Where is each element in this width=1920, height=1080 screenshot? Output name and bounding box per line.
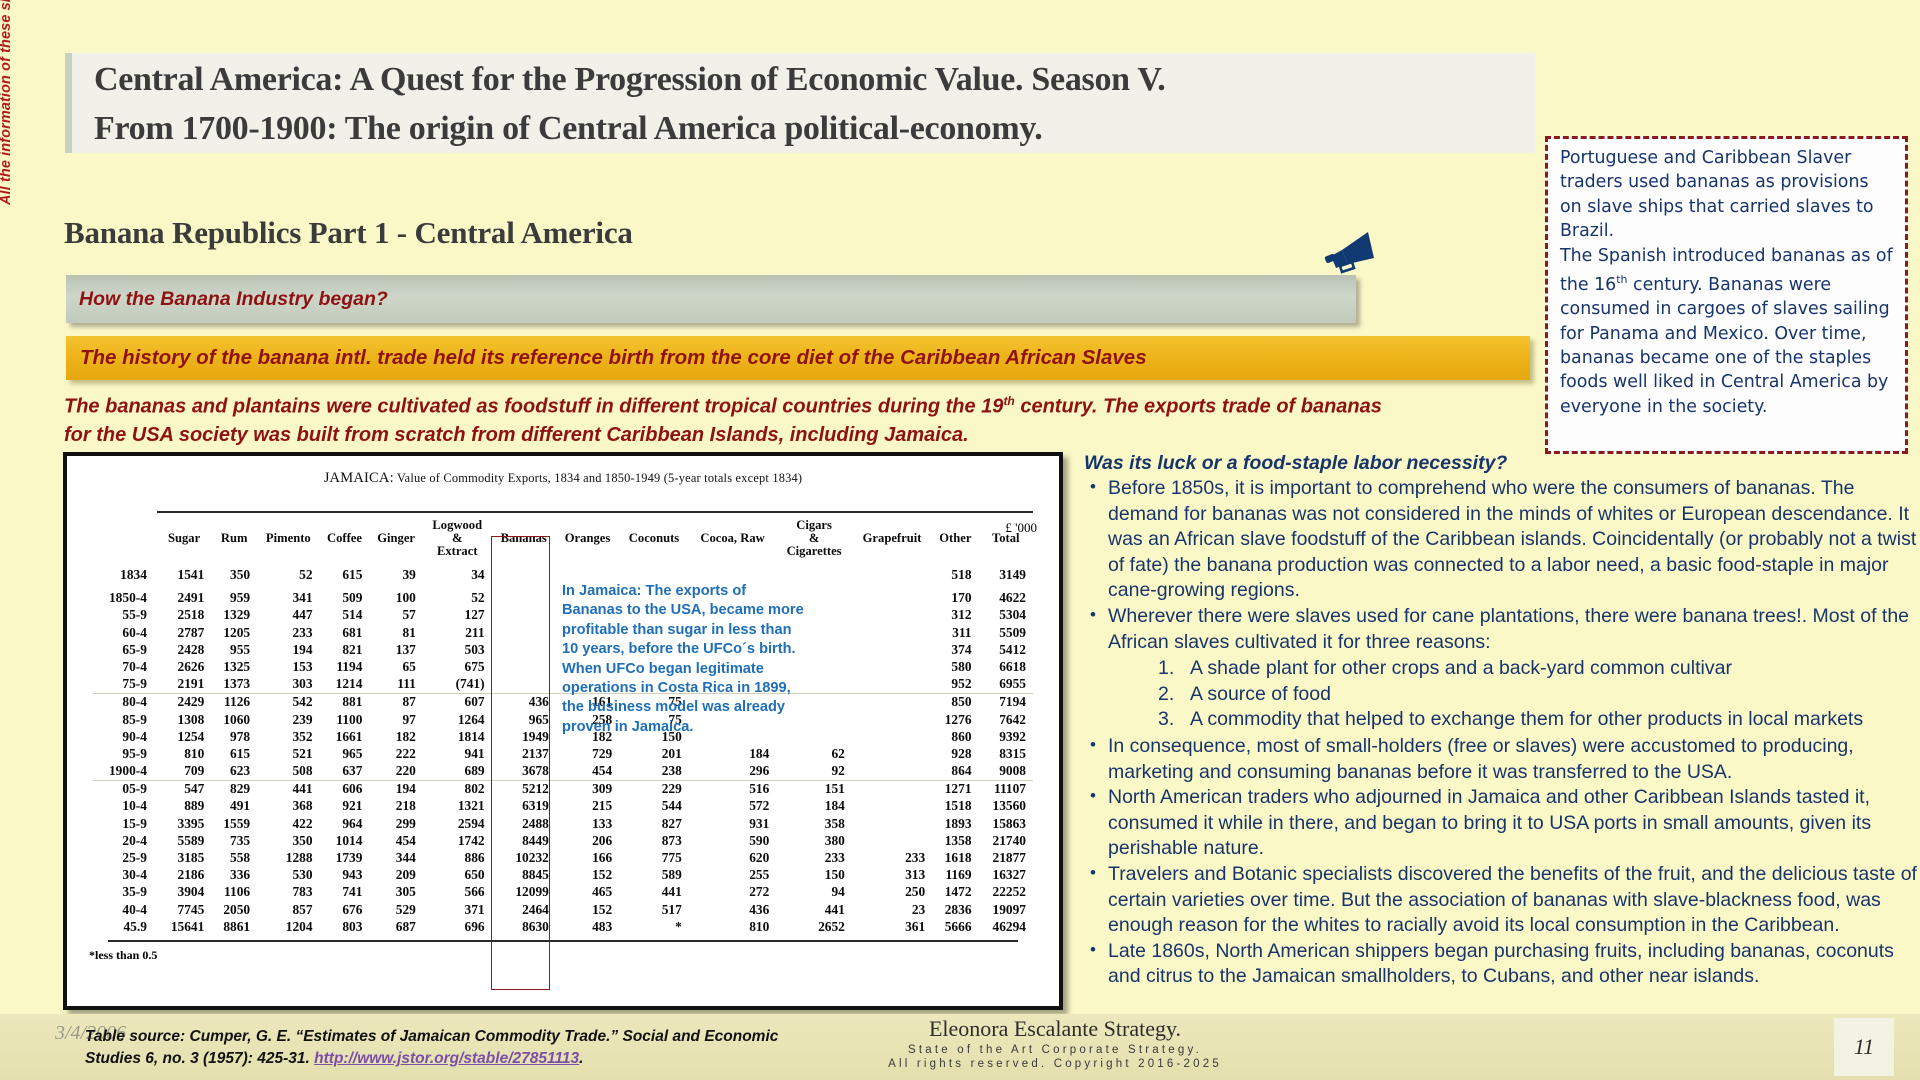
table-row-label: 30-4 — [93, 867, 157, 884]
table-cell: 2429 — [157, 693, 211, 711]
table-cell: 250 — [852, 884, 932, 901]
list-text: A source of food — [1190, 683, 1331, 705]
table-cell: 21877 — [979, 849, 1033, 866]
table-cell: 959 — [211, 583, 257, 607]
table-cell: 1214 — [320, 676, 370, 694]
table-cell: 952 — [932, 676, 978, 694]
gold-statement-bar: The history of the banana intl. trade he… — [66, 336, 1530, 380]
table-cell: 233 — [776, 849, 852, 866]
table-cell: 1276 — [932, 711, 978, 728]
table-cell: 371 — [423, 901, 492, 918]
table-row-label: 80-4 — [93, 693, 157, 711]
brand-footer: Eleonora Escalante Strategy. State of th… — [795, 1016, 1315, 1070]
table-cell: 65 — [369, 658, 422, 675]
numbered-reasons-list: 1.A shade plant for other crops and a ba… — [1084, 656, 1920, 733]
table-cell — [619, 566, 689, 583]
table-cell: 1100 — [320, 711, 370, 728]
list-text: A shade plant for other crops and a back… — [1190, 657, 1732, 679]
table-cell: 558 — [211, 849, 257, 866]
table-cell: 606 — [320, 780, 370, 798]
table-cell — [852, 728, 932, 745]
table-row-label: 45.9 — [93, 918, 157, 935]
table-column-header: Cigars&Cigarettes — [776, 512, 852, 566]
table-cell: 9392 — [979, 728, 1033, 745]
table-cell: 2428 — [157, 641, 211, 658]
table-cell: 2836 — [932, 901, 978, 918]
table-cell: 170 — [932, 583, 978, 607]
table-column-header: Logwood&Extract — [423, 512, 492, 566]
table-row-label: 1900-4 — [93, 762, 157, 780]
table-cell: 2186 — [157, 867, 211, 884]
list-item: Travelers and Botanic specialists discov… — [1084, 862, 1920, 939]
table-cell: 637 — [320, 762, 370, 780]
table-cell: 2652 — [776, 918, 852, 935]
table-cell: 860 — [932, 728, 978, 745]
table-cell: 312 — [932, 607, 978, 624]
table-units-label: £ '000 — [1005, 520, 1037, 536]
table-cell: 299 — [369, 815, 422, 832]
table-cell: 623 — [211, 762, 257, 780]
table-cell: 341 — [257, 583, 319, 607]
table-row: 15-9339515594229642992594248813382793135… — [93, 815, 1033, 832]
intro-paragraph: The bananas and plantains were cultivate… — [64, 387, 1404, 449]
table-cell: 57 — [369, 607, 422, 624]
table-cell: 182 — [369, 728, 422, 745]
jamaica-exports-table-panel: JAMAICA: Value of Commodity Exports, 183… — [63, 452, 1063, 1010]
table-cell: 607 — [423, 693, 492, 711]
table-cell: 5412 — [979, 641, 1033, 658]
table-cell: 311 — [932, 624, 978, 641]
table-cell: 509 — [320, 583, 370, 607]
table-cell: 8315 — [979, 745, 1033, 762]
table-cell: 529 — [369, 901, 422, 918]
table-cell: 689 — [423, 762, 492, 780]
table-row-label: 85-9 — [93, 711, 157, 728]
table-cell: 620 — [689, 849, 777, 866]
table-cell: 380 — [776, 832, 852, 849]
list-item: Wherever there were slaves used for cane… — [1084, 604, 1920, 655]
table-cell: 52 — [423, 583, 492, 607]
table-cell: 542 — [257, 693, 319, 711]
table-cell: 921 — [320, 798, 370, 815]
table-cell: 7642 — [979, 711, 1033, 728]
table-cell: 547 — [157, 780, 211, 798]
table-cell: 52 — [257, 566, 319, 583]
table-cell: 931 — [689, 815, 777, 832]
table-row: 35-9390411067837413055661209946544127294… — [93, 884, 1033, 901]
table-cell: 1205 — [211, 624, 257, 641]
table-cell: 1271 — [932, 780, 978, 798]
table-cell — [852, 693, 932, 711]
table-cell: * — [619, 918, 689, 935]
table-cell: 447 — [257, 607, 319, 624]
table-cell: 8861 — [211, 918, 257, 935]
table-cell: 272 — [689, 884, 777, 901]
table-cell: 9008 — [979, 762, 1033, 780]
table-cell — [852, 624, 932, 641]
table-column-header: Grapefruit — [852, 512, 932, 566]
table-cell: 483 — [556, 918, 619, 935]
table-cell: 889 — [157, 798, 211, 815]
page-number: 11 — [1834, 1018, 1894, 1076]
table-cell: 454 — [556, 762, 619, 780]
table-cell: 133 — [556, 815, 619, 832]
brand-name: Eleonora Escalante Strategy. — [795, 1016, 1315, 1042]
table-cell — [852, 711, 932, 728]
brand-copyright: All rights reserved. Copyright 2016-2025 — [795, 1058, 1315, 1070]
table-cell: 964 — [320, 815, 370, 832]
table-cell: 518 — [932, 566, 978, 583]
table-cell: 127 — [423, 607, 492, 624]
bananas-column-highlight — [491, 536, 550, 990]
table-cell: 21740 — [979, 832, 1033, 849]
table-cell: 955 — [211, 641, 257, 658]
list-item: Late 1860s, North American shippers bega… — [1084, 939, 1920, 990]
table-cell: 1559 — [211, 815, 257, 832]
table-cell: 358 — [776, 815, 852, 832]
table-row-label: 90-4 — [93, 728, 157, 745]
table-cell: 2626 — [157, 658, 211, 675]
table-cell: 1264 — [423, 711, 492, 728]
table-caption-a: JAMAICA: — [324, 470, 394, 486]
table-row: 25-9318555812881739344886102321667756202… — [93, 849, 1033, 866]
table-cell: 220 — [369, 762, 422, 780]
table-head: SugarRumPimentoCoffeeGingerLogwood&Extra… — [93, 512, 1033, 566]
table-cell: 16327 — [979, 867, 1033, 884]
table-cell: 566 — [423, 884, 492, 901]
table-cell: 1254 — [157, 728, 211, 745]
table-cell: 184 — [689, 745, 777, 762]
table-cell — [852, 566, 932, 583]
table-cell: 1814 — [423, 728, 492, 745]
table-cell: 1308 — [157, 711, 211, 728]
table-cell: 194 — [257, 641, 319, 658]
table-cell: 166 — [556, 849, 619, 866]
table-cell: 153 — [257, 658, 319, 675]
table-row: 05-9547829441606194802521230922951615112… — [93, 780, 1033, 798]
table-cell: 211 — [423, 624, 492, 641]
table-cell: 1060 — [211, 711, 257, 728]
table-cell: 305 — [369, 884, 422, 901]
table-cell: 580 — [932, 658, 978, 675]
table-cell: 783 — [257, 884, 319, 901]
table-row: 10-4889491368921218132163192155445721841… — [93, 798, 1033, 815]
question-bar: How the Banana Industry began? — [66, 275, 1356, 323]
table-cell: 873 — [619, 832, 689, 849]
table-cell: 15641 — [157, 918, 211, 935]
table-cell — [776, 566, 852, 583]
table-cell: 1518 — [932, 798, 978, 815]
table-cell: (741) — [423, 676, 492, 694]
table-cell: 965 — [320, 745, 370, 762]
megaphone-icon — [1322, 228, 1384, 280]
table-cell: 516 — [689, 780, 777, 798]
table-cell — [852, 583, 932, 607]
table-column-header: Oranges — [556, 512, 619, 566]
callout-paragraph-1: Portuguese and Caribbean Slaver traders … — [1560, 146, 1895, 244]
table-cell: 881 — [320, 693, 370, 711]
table-cell — [852, 762, 932, 780]
table-cell: 454 — [369, 832, 422, 849]
table-row-label: 60-4 — [93, 624, 157, 641]
table-cell: 2491 — [157, 583, 211, 607]
table-cell — [852, 798, 932, 815]
table-cell: 137 — [369, 641, 422, 658]
table-cell — [852, 658, 932, 675]
table-cell: 368 — [257, 798, 319, 815]
table-cell: 5304 — [979, 607, 1033, 624]
table-cell: 3395 — [157, 815, 211, 832]
gold-statement-label: The history of the banana intl. trade he… — [66, 346, 1147, 370]
table-cell: 650 — [423, 867, 492, 884]
table-cell: 352 — [257, 728, 319, 745]
table-cell: 22252 — [979, 884, 1033, 901]
table-cell: 229 — [619, 780, 689, 798]
table-cell: 215 — [556, 798, 619, 815]
table-cell — [852, 815, 932, 832]
table-cell: 94 — [776, 884, 852, 901]
table-cell: 530 — [257, 867, 319, 884]
table-row: 95-9810615521965222941213772920118462928… — [93, 745, 1033, 762]
table-cell: 741 — [320, 884, 370, 901]
table-cell: 696 — [423, 918, 492, 935]
table-row-label: 75-9 — [93, 676, 157, 694]
table-cell: 218 — [369, 798, 422, 815]
callout-paragraph-2: The Spanish introduced bananas as of the… — [1560, 244, 1895, 420]
table-cell — [852, 676, 932, 694]
table-cell: 1325 — [211, 658, 257, 675]
table-cell: 928 — [932, 745, 978, 762]
table-cell: 1329 — [211, 607, 257, 624]
table-row-label: 15-9 — [93, 815, 157, 832]
table-cell: 7745 — [157, 901, 211, 918]
right-bullet-list: Before 1850s, it is important to compreh… — [1084, 476, 1920, 655]
table-row: 183415413505261539345183149 — [93, 566, 1033, 583]
table-cell: 361 — [852, 918, 932, 935]
table-caption: JAMAICA: Value of Commodity Exports, 183… — [67, 470, 1059, 487]
table-cell: 775 — [619, 849, 689, 866]
table-cell: 87 — [369, 693, 422, 711]
blue-annotation: In Jamaica: The exports of Bananas to th… — [562, 582, 810, 737]
table-caption-b: Value of Commodity Exports, 1834 and 185… — [394, 471, 802, 485]
table-cell: 827 — [619, 815, 689, 832]
table-cell: 23 — [852, 901, 932, 918]
table-cell: 6618 — [979, 658, 1033, 675]
question-bar-label: How the Banana Industry began? — [66, 288, 388, 311]
table-cell: 943 — [320, 867, 370, 884]
table-cell: 1742 — [423, 832, 492, 849]
table-cell: 152 — [556, 901, 619, 918]
table-cell: 1618 — [932, 849, 978, 866]
table-cell: 517 — [619, 901, 689, 918]
table-cell: 3185 — [157, 849, 211, 866]
table-column-header: Other — [932, 512, 978, 566]
table-row-label: 40-4 — [93, 901, 157, 918]
table-cell: 3149 — [979, 566, 1033, 583]
table-cell: 1373 — [211, 676, 257, 694]
table-column-header: Cocoa, Raw — [689, 512, 777, 566]
table-cell: 590 — [689, 832, 777, 849]
table-cell: 1321 — [423, 798, 492, 815]
brand-tagline: State of the Art Corporate Strategy. — [795, 1044, 1315, 1056]
list-text: A commodity that helped to exchange them… — [1190, 708, 1863, 730]
callout-text-b: century. Bananas were consumed in cargoe… — [1560, 275, 1890, 417]
table-column-header: Rum — [211, 512, 257, 566]
table-row: 45.915641886112048036876968630483*810265… — [93, 918, 1033, 935]
table-cell: 344 — [369, 849, 422, 866]
slide-title-band: Central America: A Quest for the Progres… — [65, 53, 1535, 153]
page-title-line1: Central America: A Quest for the Progres… — [94, 55, 1535, 104]
table-cell: 1358 — [932, 832, 978, 849]
list-number: 3. — [1158, 707, 1174, 733]
table-row-label: 35-9 — [93, 884, 157, 901]
table-cell: 735 — [211, 832, 257, 849]
table-row: 1900-47096235086372206893678454238296928… — [93, 762, 1033, 780]
table-cell: 151 — [776, 780, 852, 798]
table-cell: 39 — [369, 566, 422, 583]
table-cell: 150 — [776, 867, 852, 884]
table-cell: 978 — [211, 728, 257, 745]
table-cell: 687 — [369, 918, 422, 935]
table-cell: 681 — [320, 624, 370, 641]
source-link[interactable]: http://www.jstor.org/stable/27851113 — [314, 1050, 579, 1067]
table-cell: 34 — [423, 566, 492, 583]
intro-text-a: The bananas and plantains were cultivate… — [64, 396, 1003, 418]
table-cell: 1126 — [211, 693, 257, 711]
table-cell — [852, 780, 932, 798]
page-title-line2: From 1700-1900: The origin of Central Am… — [94, 104, 1535, 153]
table-cell: 152 — [556, 867, 619, 884]
table-row-label: 55-9 — [93, 607, 157, 624]
table-cell: 589 — [619, 867, 689, 884]
table-cell — [852, 832, 932, 849]
table-cell: 15863 — [979, 815, 1033, 832]
table-cell: 521 — [257, 745, 319, 762]
table-cell: 615 — [320, 566, 370, 583]
table-row-label: 70-4 — [93, 658, 157, 675]
table-cell: 1288 — [257, 849, 319, 866]
table-row-label: 1850-4 — [93, 583, 157, 607]
table-cell: 6955 — [979, 676, 1033, 694]
table-column-header: Coconuts — [619, 512, 689, 566]
callout-box: Portuguese and Caribbean Slaver traders … — [1545, 136, 1908, 454]
table-row-label: 25-9 — [93, 849, 157, 866]
table-cell: 81 — [369, 624, 422, 641]
table-cell — [689, 566, 777, 583]
right-column-question: Was its luck or a food-staple labor nece… — [1084, 452, 1920, 475]
table-cell: 2191 — [157, 676, 211, 694]
table-cell: 615 — [211, 745, 257, 762]
table-cell: 92 — [776, 762, 852, 780]
table-cell: 233 — [257, 624, 319, 641]
list-number: 1. — [1158, 656, 1174, 682]
intro-superscript: th — [1003, 394, 1014, 408]
table-cell: 1472 — [932, 884, 978, 901]
table-cell: 11107 — [979, 780, 1033, 798]
table-cell — [556, 566, 619, 583]
table-header-row: SugarRumPimentoCoffeeGingerLogwood&Extra… — [93, 512, 1033, 566]
table-cell: 296 — [689, 762, 777, 780]
table-cell: 1014 — [320, 832, 370, 849]
table-cell: 201 — [619, 745, 689, 762]
table-row: 20-4558973535010144541742844920687359038… — [93, 832, 1033, 849]
table-cell: 829 — [211, 780, 257, 798]
table-cell: 850 — [932, 693, 978, 711]
table-cell — [852, 745, 932, 762]
table-cell: 206 — [556, 832, 619, 849]
list-number: 2. — [1158, 682, 1174, 708]
table-cell: 572 — [689, 798, 777, 815]
table-cell: 13560 — [979, 798, 1033, 815]
table-cell: 97 — [369, 711, 422, 728]
table-cell: 803 — [320, 918, 370, 935]
table-row-label: 1834 — [93, 566, 157, 583]
table-cell: 2518 — [157, 607, 211, 624]
table-cell: 503 — [423, 641, 492, 658]
source-text-b: . — [579, 1050, 583, 1067]
table-cell: 465 — [556, 884, 619, 901]
table-cell: 2594 — [423, 815, 492, 832]
callout-superscript: th — [1616, 273, 1627, 286]
table-cell: 5589 — [157, 832, 211, 849]
vertical-bibliography-note: All the information of these slides is s… — [0, 0, 24, 205]
table-cell: 1739 — [320, 849, 370, 866]
list-item: In consequence, most of small-holders (f… — [1084, 734, 1920, 785]
table-cell: 810 — [157, 745, 211, 762]
table-row-label: 10-4 — [93, 798, 157, 815]
table-row-label: 20-4 — [93, 832, 157, 849]
table-cell: 491 — [211, 798, 257, 815]
right-bullet-list-2: In consequence, most of small-holders (f… — [1084, 734, 1920, 990]
table-cell: 436 — [689, 901, 777, 918]
table-cell: 1893 — [932, 815, 978, 832]
table-cell: 508 — [257, 762, 319, 780]
table-cell: 864 — [932, 762, 978, 780]
table-cell: 1194 — [320, 658, 370, 675]
table-cell: 441 — [776, 901, 852, 918]
table-cell: 309 — [556, 780, 619, 798]
table-cell: 4622 — [979, 583, 1033, 607]
table-cell: 350 — [211, 566, 257, 583]
table-cell — [852, 607, 932, 624]
table-cell: 350 — [257, 832, 319, 849]
table-cell: 194 — [369, 780, 422, 798]
table-cell: 239 — [257, 711, 319, 728]
table-cell: 209 — [369, 867, 422, 884]
table-cell: 675 — [423, 658, 492, 675]
table-column-header: Ginger — [369, 512, 422, 566]
table-cell — [852, 641, 932, 658]
table-cell: 441 — [257, 780, 319, 798]
table-cell: 2787 — [157, 624, 211, 641]
table-cell: 303 — [257, 676, 319, 694]
table-footnote: *less than 0.5 — [89, 948, 1059, 963]
table-cell: 810 — [689, 918, 777, 935]
list-item: 1.A shade plant for other crops and a ba… — [1158, 656, 1920, 682]
right-content-column: Was its luck or a food-staple labor nece… — [1084, 452, 1920, 990]
table-cell: 336 — [211, 867, 257, 884]
table-cell: 1661 — [320, 728, 370, 745]
table-cell: 544 — [619, 798, 689, 815]
table-cell: 62 — [776, 745, 852, 762]
list-item: 2.A source of food — [1158, 682, 1920, 708]
table-cell: 514 — [320, 607, 370, 624]
table-cell: 1169 — [932, 867, 978, 884]
table-cell: 729 — [556, 745, 619, 762]
table-cell: 5509 — [979, 624, 1033, 641]
table-cell: 1106 — [211, 884, 257, 901]
table-cell: 2050 — [211, 901, 257, 918]
